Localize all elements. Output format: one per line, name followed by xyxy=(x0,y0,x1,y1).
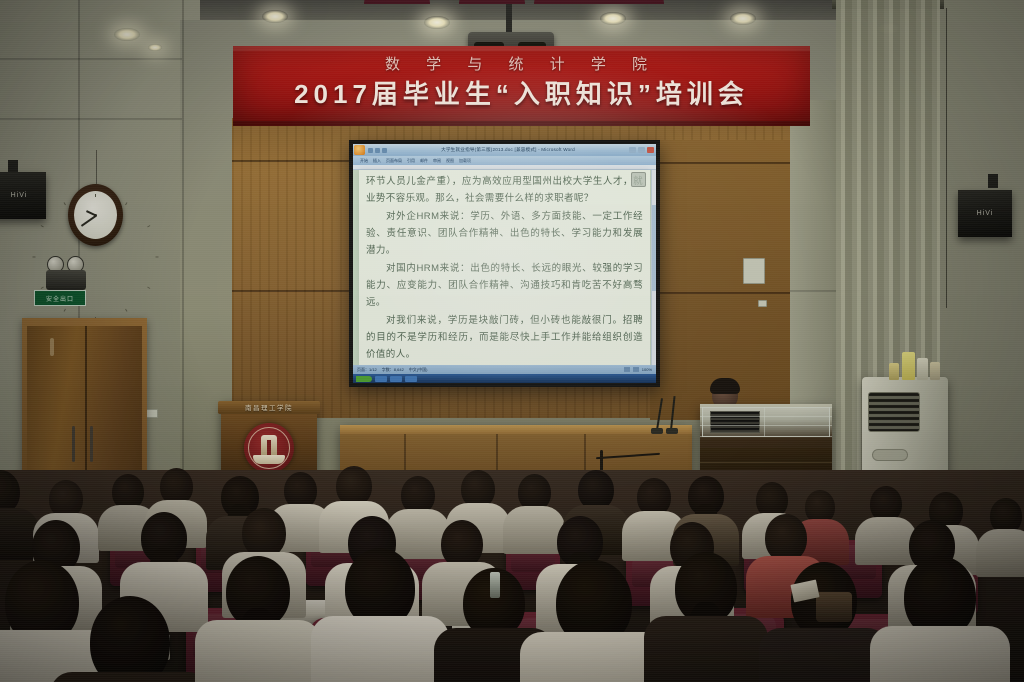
view-mode-icon xyxy=(633,367,639,372)
status-words: 字数：8,642 xyxy=(382,367,404,373)
speaker-brand-label: HiVi xyxy=(977,210,994,217)
door-light-reflection xyxy=(50,338,54,356)
wall-trim xyxy=(0,118,182,120)
door-handle[interactable] xyxy=(90,426,93,462)
word-window-title: 大学生就业指导(第三版)2013.doc [兼容模式] - Microsoft … xyxy=(387,147,629,153)
operator-hair xyxy=(710,378,740,394)
university-crest-icon xyxy=(244,423,294,473)
stage-chair-back xyxy=(598,0,664,4)
windows-taskbar[interactable] xyxy=(353,374,656,383)
word-ribbon-tabs[interactable]: 开始 插入 页面布局 引用 邮件 审阅 视图 加载项 xyxy=(353,156,656,165)
projection-screen: 大学生就业指导(第三版)2013.doc [兼容模式] - Microsoft … xyxy=(349,140,660,387)
wall-outlet-plate[interactable] xyxy=(758,300,767,307)
taskbar-item[interactable] xyxy=(375,376,387,382)
ribbon-tab[interactable]: 加载项 xyxy=(459,158,471,164)
banner-line-1: 数 学 与 统 计 学 院 xyxy=(233,53,810,74)
emergency-light xyxy=(46,256,86,290)
water-bottle[interactable] xyxy=(930,362,940,380)
wall-clock xyxy=(68,184,123,246)
laptop[interactable] xyxy=(710,411,760,433)
word-document-page: 环节人员儿金产重），应为高效应用型国州出校大学生人才，就业势不容乐观。那么，社会… xyxy=(359,170,650,365)
floating-object-placeholder[interactable] xyxy=(631,172,646,187)
ribbon-tab[interactable]: 开始 xyxy=(360,158,368,164)
wall-speaker-left: HiVi xyxy=(0,172,46,219)
clock-center-pin xyxy=(94,214,97,217)
exit-sign: 安全出口 xyxy=(34,290,86,306)
projector-mount-pole xyxy=(506,0,512,34)
status-page: 页面：1/12 xyxy=(357,367,377,373)
cable xyxy=(600,450,603,472)
water-bottle[interactable] xyxy=(902,352,915,380)
table-top-surface xyxy=(340,425,692,434)
clock-hanger xyxy=(96,150,97,184)
crest-book-icon xyxy=(253,455,285,464)
ribbon-tab[interactable]: 插入 xyxy=(373,158,381,164)
microphone-base xyxy=(651,428,663,434)
document-paragraph: 对我们来说，学历是块敲门砖，但小砖也能敲很门。招聘的目的不是学历和经历，而是能尽… xyxy=(366,312,643,363)
start-button-icon[interactable] xyxy=(356,376,372,382)
ceiling-light xyxy=(730,12,756,25)
curtain-cord[interactable] xyxy=(946,8,947,308)
document-paragraph: 对国内HRM来说：出色的特长、长远的眼光、较强的学习能力、应变能力、团队合作精神… xyxy=(366,260,643,311)
ac-brand-badge xyxy=(872,449,908,461)
exit-door[interactable] xyxy=(22,318,147,493)
taskbar-item[interactable] xyxy=(390,376,402,382)
close-icon xyxy=(647,147,654,153)
wall-trim xyxy=(0,58,182,60)
door-seam xyxy=(85,326,87,493)
ceiling-light xyxy=(600,12,626,25)
projection-surface: 大学生就业指导(第三版)2013.doc [兼容模式] - Microsoft … xyxy=(353,144,656,383)
banner-line-2: 2017届毕业生“入职知识”培训会 xyxy=(233,74,810,111)
stage-chair-back xyxy=(364,0,430,4)
word-title-bar: 大学生就业指导(第三版)2013.doc [兼容模式] - Microsoft … xyxy=(353,144,656,156)
document-paragraph: 环节人员儿金产重），应为高效应用型国州出校大学生人才，就业势不容乐观。那么，社会… xyxy=(366,173,643,207)
stage-chair-back xyxy=(459,0,525,4)
ceiling-light xyxy=(262,10,288,23)
handbag[interactable] xyxy=(816,592,852,622)
view-mode-icon xyxy=(624,367,630,372)
vertical-scrollbar[interactable] xyxy=(651,170,656,365)
status-language: 中文(中国) xyxy=(409,367,428,373)
document-paragraph: 对外企HRM来说：学历、外语、多方面技能、一定工作经验、责任意识、团队合作精神、… xyxy=(366,208,643,259)
event-banner: 数 学 与 统 计 学 院 2017届毕业生“入职知识”培训会 xyxy=(233,46,810,126)
ribbon-tab[interactable]: 引用 xyxy=(407,158,415,164)
speaker-brand-label: HiVi xyxy=(11,192,28,199)
ribbon-tab[interactable]: 页面布局 xyxy=(386,158,402,164)
lectern-name-plate: 南昌理工学院 xyxy=(218,402,320,412)
ceiling-light xyxy=(148,44,162,51)
ribbon-tab[interactable]: 视图 xyxy=(446,158,454,164)
lecture-hall-photo: 数 学 与 统 计 学 院 2017届毕业生“入职知识”培训会 大学生就业指导(… xyxy=(0,0,1024,682)
wall-trim xyxy=(182,0,184,470)
water-bottle[interactable] xyxy=(889,363,899,380)
taskbar-item[interactable] xyxy=(405,376,417,382)
ribbon-tab[interactable]: 邮件 xyxy=(420,158,428,164)
ceiling-light xyxy=(424,16,450,29)
exit-sign-label: 安全出口 xyxy=(46,294,74,303)
word-status-bar: 页面：1/12 字数：8,642 中文(中国) 100% xyxy=(353,365,656,374)
ribbon-tab[interactable]: 审阅 xyxy=(433,158,441,164)
status-zoom-controls[interactable]: 100% xyxy=(624,367,652,372)
door-handle[interactable] xyxy=(72,426,75,462)
stage-chair-back xyxy=(534,0,600,4)
water-bottle[interactable] xyxy=(917,358,928,380)
clock-minute-hand xyxy=(81,215,96,226)
office-orb-icon[interactable] xyxy=(354,145,365,155)
microphone-base xyxy=(666,428,678,434)
speaker-bracket xyxy=(988,174,998,188)
status-zoom: 100% xyxy=(642,367,652,372)
clock-face xyxy=(74,191,117,239)
water-bottle-on-desk[interactable] xyxy=(490,572,500,598)
wall-speaker-right: HiVi xyxy=(958,190,1012,237)
crest-tower-icon xyxy=(261,435,277,455)
lectern-top: 南昌理工学院 xyxy=(218,401,320,414)
window-controls[interactable] xyxy=(629,147,654,153)
ac-vent-grille-icon xyxy=(868,392,920,432)
quick-access-toolbar[interactable] xyxy=(368,148,387,153)
ceiling-light xyxy=(114,28,140,41)
wall-switch-plate[interactable] xyxy=(743,258,765,284)
